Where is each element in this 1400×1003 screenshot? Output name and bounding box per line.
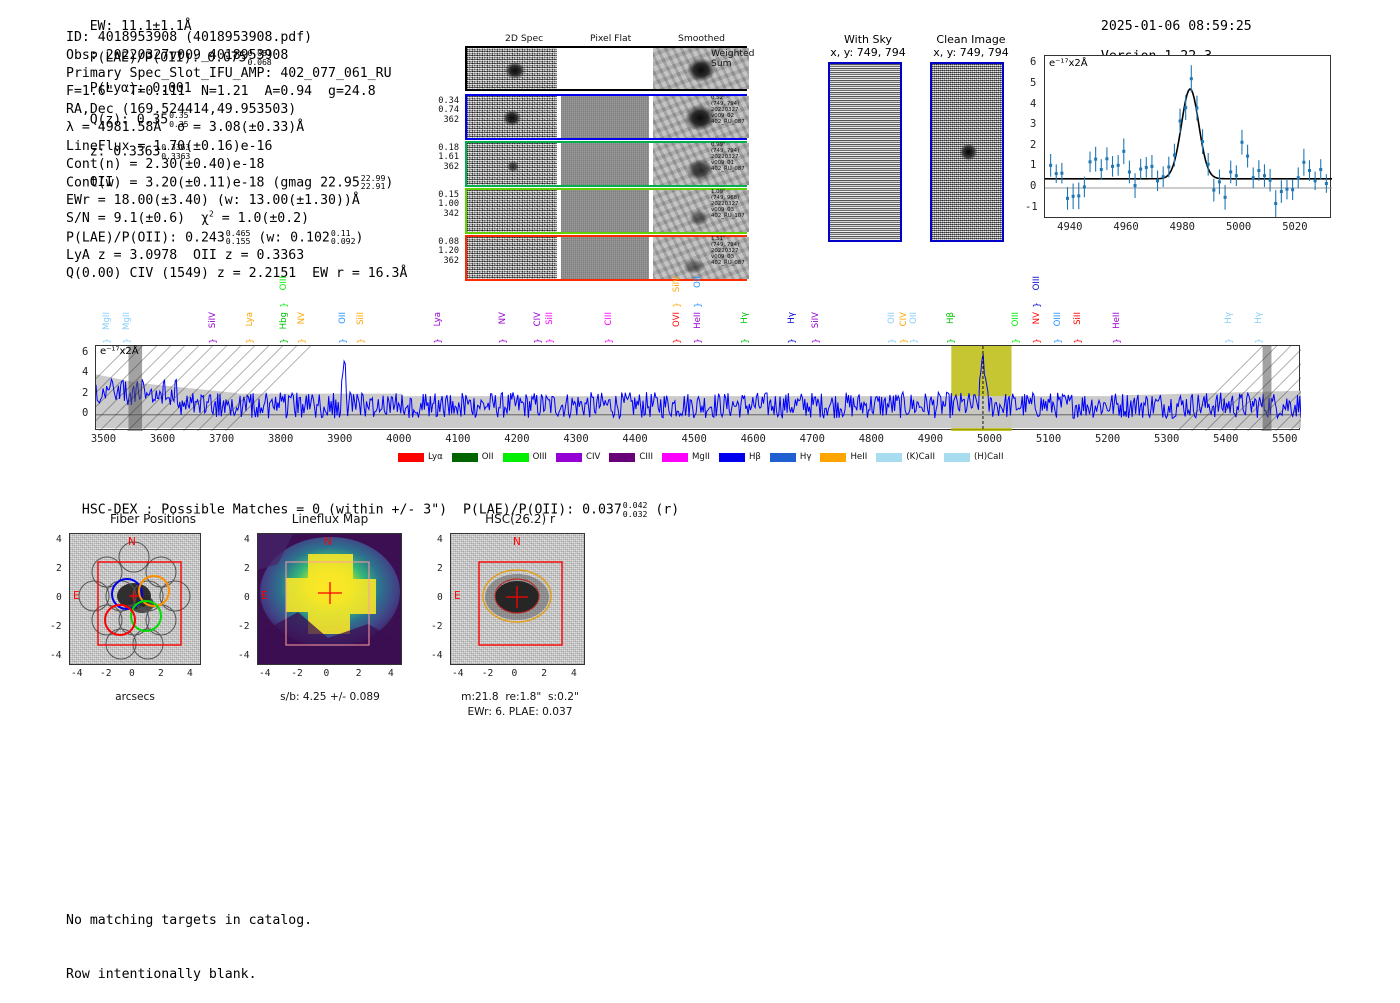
spectrum-line-brace: {: [544, 338, 554, 344]
spectrum-line-label: Lya: [245, 312, 255, 326]
spectrum-line-label: Hγ: [1224, 312, 1234, 324]
legend-item: (K)CaII: [876, 452, 935, 462]
spectrum-line-label: MgII: [122, 312, 132, 330]
legend-swatch: [820, 453, 846, 462]
compass-east: E: [261, 590, 268, 602]
spectrum-line-label: OII: [887, 312, 897, 324]
footer-line-2: Row intentionally blank.: [66, 966, 312, 984]
spectrum-line-brace: {: [296, 338, 306, 344]
axis-tick-label: 2: [437, 563, 443, 574]
legend-item: Lyα: [398, 452, 443, 462]
axis-tick-label: -4: [71, 668, 83, 679]
zoom-plot-canvas: [1045, 56, 1332, 219]
hsc-panel-title: HSC(26.2) r: [440, 512, 600, 526]
spectrum-line-label: OIII: [1053, 312, 1063, 326]
panel-pixelflat: [561, 143, 649, 185]
fiber-positions-canvas: [70, 534, 201, 665]
legend-label: CIII: [639, 452, 653, 462]
info-primary-spec: Primary Spec_Slot_IFU_AMP: 402_077_061_R…: [66, 65, 407, 83]
legend-item: Hβ: [719, 452, 761, 462]
axis-tick-label: 0: [129, 668, 135, 679]
spectrum-line-brace: {: [1072, 338, 1082, 344]
axis-tick-label: 5000: [1226, 221, 1251, 233]
spectrum-line-label: MgII: [102, 312, 112, 330]
spec2d-row-1-meta: 0.52" (749, 794) 20220327 v009_02 402_RU…: [711, 95, 745, 125]
axis-tick-label: 0: [437, 592, 443, 603]
lineflux-map-xlabel: s/b: 4.25 +/- 0.089: [250, 691, 410, 703]
legend-swatch: [609, 453, 635, 462]
axis-tick-label: 1: [1030, 159, 1036, 171]
spec2d-row-3: [465, 188, 747, 234]
spectrum-line-brace: {: [1031, 338, 1041, 344]
info-seeing-params: F=1.6" T=0.111 N=1.21 A=0.94 g=24.8: [66, 83, 407, 101]
compass-north: N: [513, 536, 521, 548]
compass-east: E: [454, 590, 461, 602]
lineflux-map-title: Lineflux Map: [250, 512, 410, 526]
hsc-r-panel: N E: [450, 533, 585, 665]
spectrum-line-label: OIII: [279, 276, 289, 290]
spectrum-line-label: SiII: [1073, 312, 1083, 325]
axis-tick-label: 2: [541, 668, 547, 679]
axis-tick-label: 2: [56, 563, 62, 574]
axis-tick-label: 0: [1030, 180, 1036, 192]
spectrum-line-brace: {: [1253, 338, 1263, 344]
axis-tick-label: 0: [512, 668, 518, 679]
spectrum-line-label: NV: [1032, 312, 1042, 324]
spectrum-line-label: OII: [693, 276, 703, 288]
spectrum-line-brace: {: [908, 338, 918, 344]
clean-image-title: Clean Image x, y: 749, 794: [926, 33, 1016, 59]
panel-2dspec: [467, 96, 557, 138]
spec2d-montage: 2D Spec Pixel Flat Smoothed Weighted Sum…: [425, 33, 755, 251]
source-info-block: ID: 4018953908 (4018953908.pdf) Obs: 202…: [66, 29, 407, 283]
panel-pixelflat: [561, 190, 649, 232]
axis-tick-label: 0: [56, 592, 62, 603]
spectrum-line-label: CIV: [899, 312, 909, 326]
spectrum-line-brace: {: [886, 338, 896, 344]
axis-tick-label: -2: [100, 668, 112, 679]
legend-swatch: [876, 453, 902, 462]
spectrum-line-brace: {: [355, 338, 365, 344]
panel-2dspec: [467, 143, 557, 185]
axis-tick-label: 4900: [918, 433, 943, 445]
col-header-pixelflat: Pixel Flat: [590, 33, 631, 44]
spectrum-line-brace: {: [809, 338, 819, 344]
fiber-positions-panel: N E: [69, 533, 201, 665]
info-cont-n: Cont(n) = 2.30(±0.40)e-18: [66, 156, 407, 174]
axis-tick-label: 5300: [1154, 433, 1179, 445]
spectrum-line-label: CIII: [604, 312, 614, 326]
axis-tick-label: 5: [1030, 77, 1036, 89]
axis-tick-label: 2: [1030, 139, 1036, 151]
spectrum-line-label: HeII: [1112, 312, 1122, 329]
axis-tick-label: 4: [187, 668, 193, 679]
spectrum-line-brace: {: [1111, 338, 1121, 344]
spectrum-line-brace: {: [739, 338, 749, 344]
axis-tick-label: 4600: [741, 433, 766, 445]
axis-tick-label: 6: [82, 346, 88, 358]
legend-label: Lyα: [428, 452, 443, 462]
axis-tick-label: 4200: [504, 433, 529, 445]
col-header-smoothed: Smoothed: [678, 33, 725, 44]
legend-swatch: [503, 453, 529, 462]
legend-swatch: [398, 453, 424, 462]
axis-tick-label: 2: [244, 563, 250, 574]
spectrum-line-label: Hβ: [946, 312, 956, 324]
spectrum-line-label: Lya: [433, 312, 443, 326]
axis-tick-label: -4: [452, 668, 464, 679]
spectrum-line-brace: {: [786, 338, 796, 344]
axis-tick-label: 2: [356, 668, 362, 679]
spectrum-line-brace: {: [603, 338, 613, 344]
axis-tick-label: 3800: [268, 433, 293, 445]
axis-tick-label: 5100: [1036, 433, 1061, 445]
legend-label: Hβ: [749, 452, 761, 462]
lineflux-map-canvas: [258, 534, 402, 665]
axis-tick-label: 2: [82, 387, 88, 399]
axis-tick-label: 4800: [859, 433, 884, 445]
axis-tick-label: 2: [158, 668, 164, 679]
spectrum-line-brace: {: [337, 338, 347, 344]
legend-item: OIII: [503, 452, 547, 462]
axis-tick-label: 4980: [1170, 221, 1195, 233]
axis-tick-label: 5200: [1095, 433, 1120, 445]
legend-item: HeII: [820, 452, 867, 462]
spectrum-line-label: Hγ: [1254, 312, 1264, 324]
legend-swatch: [944, 453, 970, 462]
legend-swatch: [719, 453, 745, 462]
axis-tick-label: 3: [1030, 118, 1036, 130]
legend-swatch: [452, 453, 478, 462]
spectrum-line-label: NV: [297, 312, 307, 324]
legend-swatch: [770, 453, 796, 462]
legend-label: MgII: [692, 452, 710, 462]
clean-image-cutout: [930, 62, 1004, 242]
spectrum-line-brace: {: [671, 338, 681, 344]
axis-tick-label: 6: [1030, 56, 1036, 68]
compass-north: N: [128, 536, 136, 548]
axis-tick-label: 3600: [150, 433, 175, 445]
spectrum-line-brace: {: [945, 338, 955, 344]
axis-tick-label: 4000: [386, 433, 411, 445]
spectrum-line-brace: {: [898, 338, 908, 344]
panel-2dspec: [467, 190, 557, 232]
info-cont-w: Cont(w) = 3.20(±0.11)e-18 (gmag 22.9522.…: [66, 174, 407, 193]
axis-tick-label: 3700: [209, 433, 234, 445]
compass-north: N: [324, 536, 332, 548]
legend-label: (H)CaII: [974, 452, 1004, 462]
emission-line-zoom-plot: e⁻¹⁷x2Å: [1044, 55, 1331, 218]
spectrum-line-label: OIII: [1011, 312, 1021, 326]
spectrum-line-label: CIV: [533, 312, 543, 326]
hsc-panel-caption2: EWr: 6. PLAE: 0.037: [430, 706, 610, 718]
spec2d-row-weighted-sum: [465, 46, 747, 91]
spectrum-line-brace: {: [278, 302, 288, 308]
info-q-civ: Q(0.00) CIV (1549) z = 2.2151 EW r = 16.…: [66, 265, 407, 283]
spectrum-line-brace: {: [244, 338, 254, 344]
spectrum-line-brace: {: [121, 338, 131, 344]
weighted-sum-label: Weighted Sum: [711, 49, 755, 69]
axis-tick-label: -4: [238, 650, 250, 661]
fiber-positions-title: Fiber Positions: [63, 512, 243, 526]
legend-item: CIII: [609, 452, 653, 462]
legend-item: CIV: [556, 452, 600, 462]
spectrum-line-label: Hγ: [787, 312, 797, 324]
axis-tick-label: 4: [82, 366, 88, 378]
spec2d-row-1: [465, 94, 747, 140]
axis-tick-label: 4400: [622, 433, 647, 445]
col-header-2dspec: 2D Spec: [505, 33, 543, 44]
axis-tick-label: -2: [482, 668, 494, 679]
info-wavelength-sigma: λ = 4981.58Å σ = 3.08(±0.33)Å: [66, 119, 407, 137]
spectrum-line-label: OII: [338, 312, 348, 324]
spectrum-line-brace: {: [496, 338, 506, 344]
spectrum-line-brace: {: [101, 338, 111, 344]
spectrum-units-label: e⁻¹⁷x2Å: [100, 346, 139, 357]
spectrum-line-brace: {: [207, 338, 217, 344]
spectrum-line-label: HeII: [693, 312, 703, 329]
spectrum-line-brace: {: [691, 338, 701, 344]
spec2d-row-4: [465, 235, 747, 281]
spectrum-line-label: SiIV: [208, 312, 218, 328]
spec2d-row-2: [465, 141, 747, 187]
axis-tick-label: 0: [244, 592, 250, 603]
spectrum-line-label: SiII: [356, 312, 366, 325]
axis-tick-label: 4940: [1057, 221, 1082, 233]
axis-tick-label: 5400: [1213, 433, 1238, 445]
legend-item: OII: [452, 452, 494, 462]
spectrum-line-brace: {: [1010, 338, 1020, 344]
spectrum-line-brace: {: [1031, 302, 1041, 308]
spectrum-line-brace: {: [278, 338, 288, 344]
axis-tick-label: 4960: [1113, 221, 1138, 233]
legend-label: OIII: [533, 452, 547, 462]
axis-tick-label: 4700: [800, 433, 825, 445]
spectrum-line-label: NV: [498, 312, 508, 324]
hsc-r-canvas: [451, 534, 585, 665]
legend-label: HeII: [850, 452, 867, 462]
spectrum-line-label: Hbg: [279, 312, 289, 329]
info-obs: Obs: 20220327v009_4018953908: [66, 47, 407, 65]
with-sky-title: With Sky x, y: 749, 794: [828, 33, 908, 59]
spec2d-row-2-meta: 0.99" (749, 794) 20220327 v009_01 402_RU…: [711, 142, 745, 172]
legend-swatch: [662, 453, 688, 462]
info-radec: RA,Dec (169.524414,49.953503): [66, 101, 407, 119]
spectrum-line-label: Hγ: [740, 312, 750, 324]
footer-note: No matching targets in catalog. Row inte…: [66, 876, 312, 1003]
axis-tick-label: 3500: [91, 433, 116, 445]
axis-tick-label: -4: [50, 650, 62, 661]
lineflux-map-panel: N E: [257, 533, 402, 665]
spectrum-line-brace: {: [532, 338, 542, 344]
axis-tick-label: -2: [291, 668, 303, 679]
axis-tick-label: 4300: [563, 433, 588, 445]
hsc-panel-xlabel: m:21.8 re:1.8" s:0.2": [430, 691, 610, 703]
axis-tick-label: 4: [56, 534, 62, 545]
full-spectrum-plot: e⁻¹⁷x2Å: [95, 345, 1300, 430]
axis-tick-label: 4: [244, 534, 250, 545]
fiber-positions-xlabel: arcsecs: [69, 691, 201, 703]
spectrum-line-label: SiIV: [811, 312, 821, 328]
axis-tick-label: -4: [259, 668, 271, 679]
info-id: ID: 4018953908 (4018953908.pdf): [66, 29, 407, 47]
info-sn-chi2: S/N = 9.1(±0.6) χ2 = 1.0(±0.2): [66, 210, 407, 228]
legend-label: CIV: [586, 452, 600, 462]
info-redshifts: LyA z = 3.0978 OII z = 0.3363: [66, 247, 407, 265]
spectrum-line-brace: {: [671, 302, 681, 308]
panel-pixelflat: [561, 48, 649, 89]
legend-item: (H)CaII: [944, 452, 1004, 462]
timestamp: 2025-01-06 08:59:25: [1101, 19, 1252, 34]
spectrum-line-label: OIII: [1032, 276, 1042, 290]
panel-pixelflat: [561, 237, 649, 279]
spectrum-line-brace: {: [1052, 338, 1062, 344]
spec2d-row-1-left-label: 0.34 0.74 362: [438, 97, 459, 125]
axis-tick-label: 5500: [1272, 433, 1297, 445]
info-ewr: EWr = 18.00(±3.40) (w: 13.00(±1.30))Å: [66, 192, 407, 210]
legend-label: OII: [482, 452, 494, 462]
panel-2dspec: [467, 48, 557, 89]
compass-east: E: [73, 590, 80, 602]
spec2d-row-3-left-label: 0.15 1.00 342: [438, 191, 459, 219]
axis-tick-label: 0: [324, 668, 330, 679]
axis-tick-label: 4: [388, 668, 394, 679]
spectrum-line-label: SiIV: [672, 276, 682, 292]
info-plae-poii: P(LAE)/P(OII): 0.2430.4650.155 (w: 0.102…: [66, 229, 407, 248]
spec2d-row-4-left-label: 0.08 1.20 362: [438, 238, 459, 266]
spectrum-line-label: OVI: [672, 312, 682, 327]
clean-image-source-blob: [960, 144, 977, 160]
footer-line-1: No matching targets in catalog.: [66, 912, 312, 930]
axis-tick-label: 4: [571, 668, 577, 679]
axis-tick-label: 4100: [445, 433, 470, 445]
legend-item: Hγ: [770, 452, 812, 462]
legend-label: (K)CaII: [906, 452, 935, 462]
axis-tick-label: -2: [50, 621, 62, 632]
spectrum-line-brace: {: [431, 338, 441, 344]
axis-tick-label: -1: [1025, 201, 1038, 213]
spec2d-row-3-meta: 1.09" (749, 968) 20220327 v009_03 402_RU…: [711, 189, 745, 219]
with-sky-cutout: [828, 62, 902, 242]
spectrum-canvas: [96, 346, 1301, 431]
legend-label: Hγ: [800, 452, 812, 462]
panel-pixelflat: [561, 96, 649, 138]
legend-swatch: [556, 453, 582, 462]
panel-2dspec: [467, 237, 557, 279]
axis-tick-label: 5020: [1282, 221, 1307, 233]
axis-tick-label: -2: [431, 621, 443, 632]
spectrum-line-brace: {: [691, 302, 701, 308]
axis-tick-label: 4500: [682, 433, 707, 445]
legend-item: MgII: [662, 452, 710, 462]
spec2d-row-2-left-label: 0.18 1.61 362: [438, 144, 459, 172]
axis-tick-label: 3900: [327, 433, 352, 445]
axis-tick-label: -2: [238, 621, 250, 632]
axis-tick-label: -4: [431, 650, 443, 661]
spectrum-line-label: OII: [909, 312, 919, 324]
axis-tick-label: 0: [82, 407, 88, 419]
spectrum-legend: LyαOIIOIIICIVCIIIMgIIHβHγHeII(K)CaII(H)C…: [398, 452, 1004, 462]
spectrum-line-label: SiII: [545, 312, 555, 325]
axis-tick-label: 4: [437, 534, 443, 545]
spec2d-row-4-meta: 1.51" (749, 794) 20220327 v009_03 402_RU…: [711, 236, 745, 266]
axis-tick-label: 4: [1030, 98, 1036, 110]
axis-tick-label: 5000: [977, 433, 1002, 445]
info-lineflux: LineFlux = 1.70(±0.16)e-16: [66, 138, 407, 156]
spectrum-line-brace: {: [1223, 338, 1233, 344]
